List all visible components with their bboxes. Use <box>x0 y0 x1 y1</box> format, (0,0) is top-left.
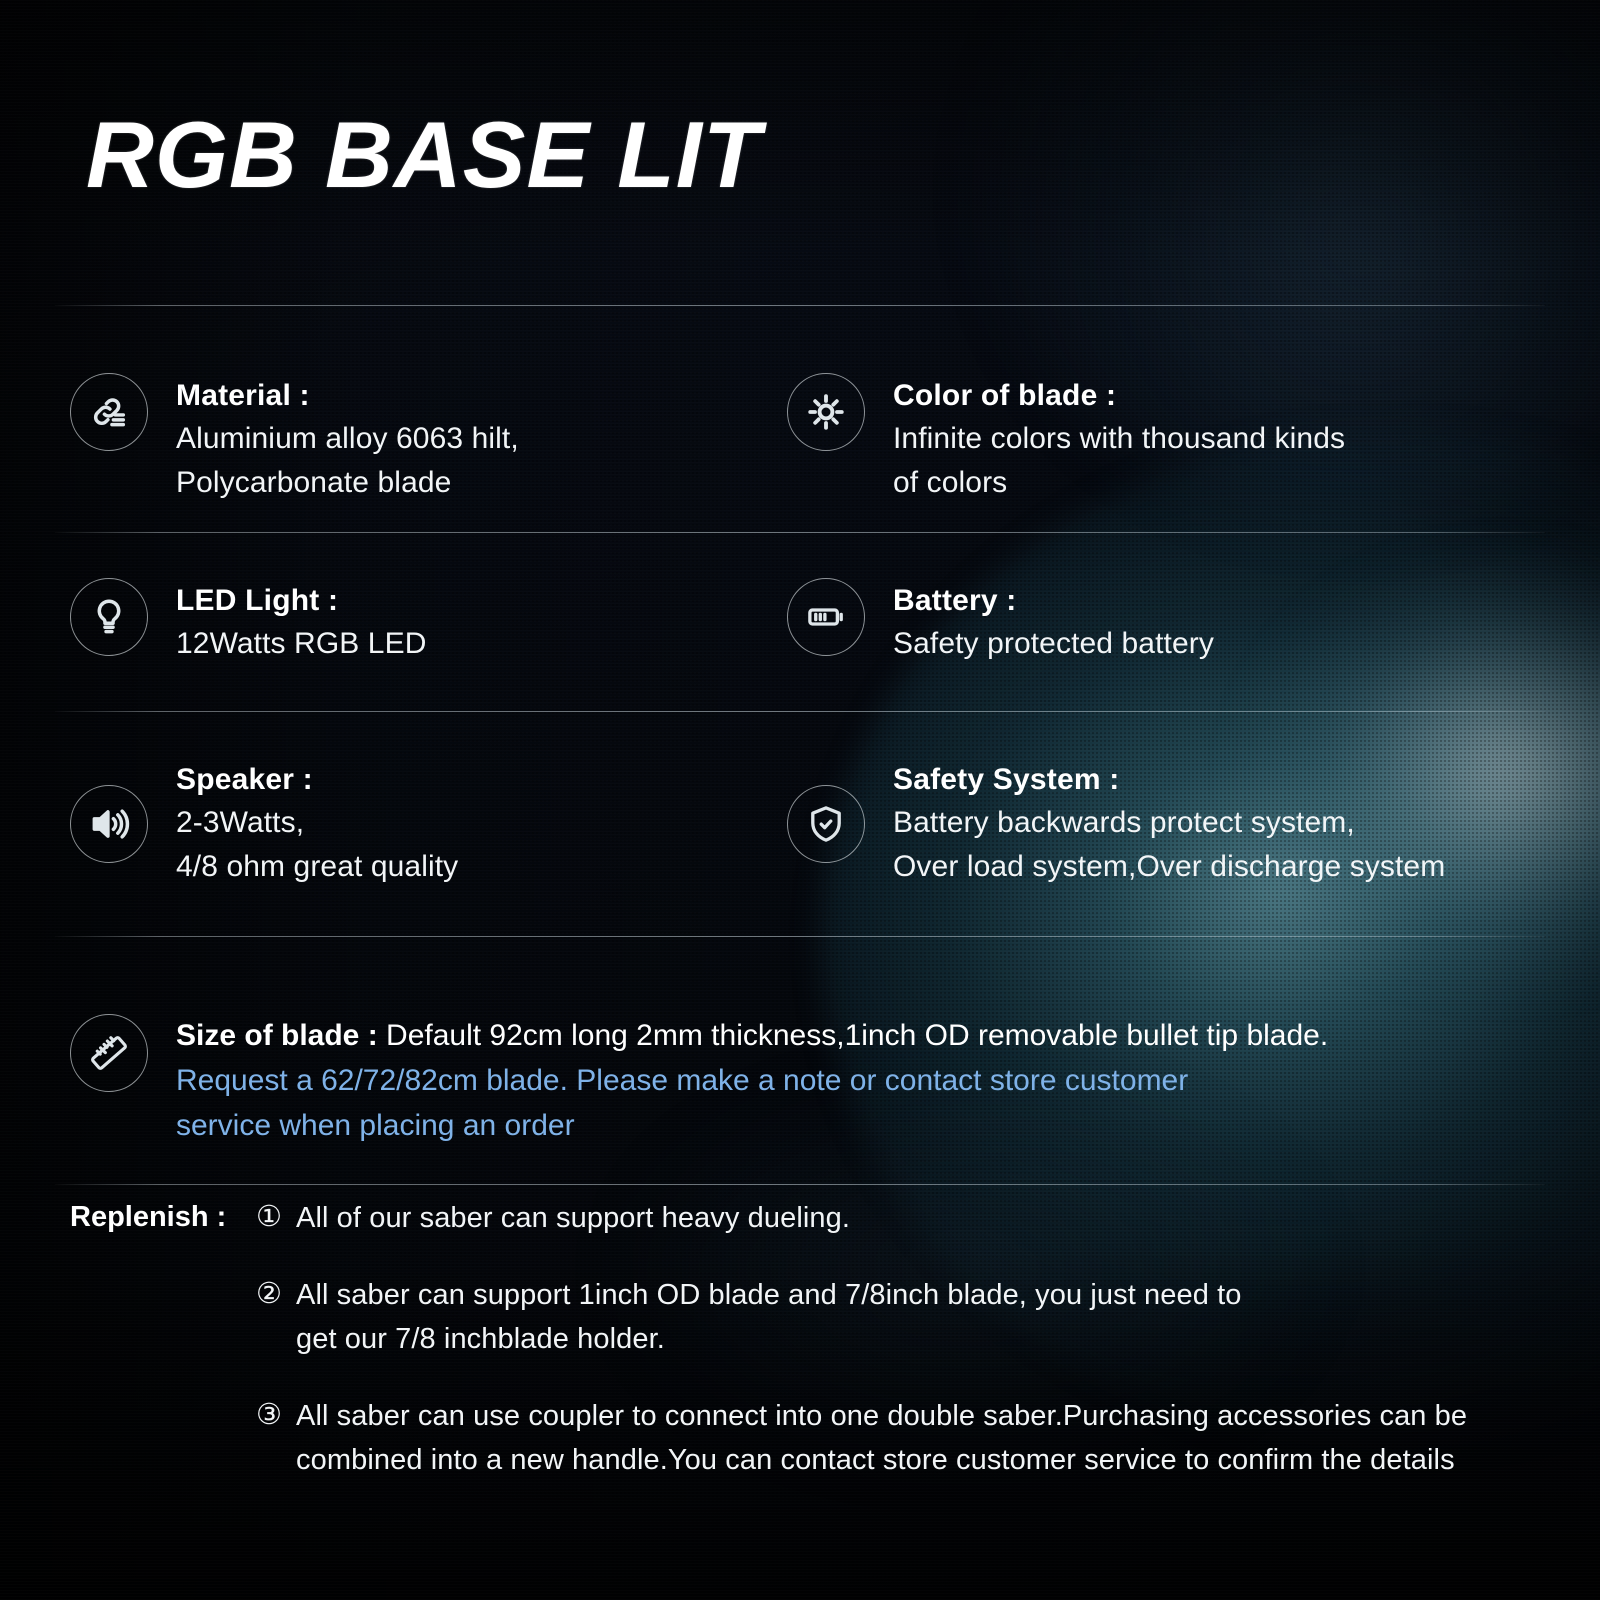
size-of-blade-label: Size of blade : <box>176 1019 378 1052</box>
list-item: ③ All saber can use coupler to connect i… <box>256 1394 1560 1482</box>
spec-label-battery: Battery : <box>893 580 1214 622</box>
speaker-icon <box>70 785 148 863</box>
list-item-number-2: ② <box>256 1273 296 1316</box>
page-title: RGB BASE LIT <box>86 108 761 202</box>
spec-value-color-of-blade: Infinite colors with thousand kinds of c… <box>893 417 1345 505</box>
content-layer: RGB BASE LIT Material : Aluminium alloy … <box>0 0 1600 1600</box>
spec-value-material: Aluminium alloy 6063 hilt, Polycarbonate… <box>176 417 519 505</box>
divider-3 <box>55 711 1545 712</box>
spec-body: Speaker : 2-3Watts, 4/8 ohm great qualit… <box>176 757 458 889</box>
spec-value-battery: Safety protected battery <box>893 622 1214 666</box>
spec-label-safety-system: Safety System : <box>893 759 1445 801</box>
spec-label-led-light: LED Light : <box>176 580 426 622</box>
list-item: ① All of our saber can support heavy due… <box>256 1196 1560 1240</box>
spec-item-size-of-blade: Size of blade : Default 92cm long 2mm th… <box>70 1008 1328 1148</box>
spec-body: Material : Aluminium alloy 6063 hilt, Po… <box>176 373 519 505</box>
spec-item-material: Material : Aluminium alloy 6063 hilt, Po… <box>70 373 519 505</box>
ruler-icon <box>70 1014 148 1092</box>
shield-check-icon <box>787 785 865 863</box>
divider-1 <box>55 305 1545 306</box>
replenish-section: Replenish : ① All of our saber can suppo… <box>70 1196 1560 1482</box>
list-item-number-3: ③ <box>256 1394 296 1437</box>
divider-2 <box>55 532 1545 533</box>
size-of-blade-value-spacer <box>378 1019 386 1052</box>
replenish-row: Replenish : ① All of our saber can suppo… <box>70 1196 1560 1482</box>
spec-body: Color of blade : Infinite colors with th… <box>893 373 1345 505</box>
divider-5 <box>55 1184 1545 1185</box>
battery-icon <box>787 578 865 656</box>
size-of-blade-line: Size of blade : Default 92cm long 2mm th… <box>176 1014 1328 1058</box>
spec-body: Safety System : Battery backwards protec… <box>893 757 1445 889</box>
product-spec-infographic: RGB BASE LIT Material : Aluminium alloy … <box>0 0 1600 1600</box>
list-item: ② All saber can support 1inch OD blade a… <box>256 1273 1560 1361</box>
spec-value-speaker: 2-3Watts, 4/8 ohm great quality <box>176 801 458 889</box>
size-of-blade-note: Request a 62/72/82cm blade. Please make … <box>176 1058 1328 1148</box>
list-item-text-2: All saber can support 1inch OD blade and… <box>296 1273 1241 1361</box>
spec-item-color-of-blade: Color of blade : Infinite colors with th… <box>787 373 1345 505</box>
spec-value-safety-system: Battery backwards protect system, Over l… <box>893 801 1445 889</box>
spec-item-battery: Battery : Safety protected battery <box>787 578 1214 666</box>
spec-body: Battery : Safety protected battery <box>893 578 1214 666</box>
list-item-text-1: All of our saber can support heavy dueli… <box>296 1196 850 1240</box>
spec-label-color-of-blade: Color of blade : <box>893 375 1345 417</box>
list-item-number-1: ① <box>256 1196 296 1239</box>
replenish-items: ① All of our saber can support heavy due… <box>256 1196 1560 1482</box>
size-of-blade-value: Default 92cm long 2mm thickness,1inch OD… <box>386 1019 1328 1052</box>
replenish-title: Replenish : <box>70 1196 256 1239</box>
spec-label-material: Material : <box>176 375 519 417</box>
lightbulb-icon <box>70 578 148 656</box>
spec-value-led-light: 12Watts RGB LED <box>176 622 426 666</box>
spec-item-led-light: LED Light : 12Watts RGB LED <box>70 578 426 666</box>
spec-item-safety-system: Safety System : Battery backwards protec… <box>787 757 1445 889</box>
brightness-sun-icon <box>787 373 865 451</box>
spec-body: Size of blade : Default 92cm long 2mm th… <box>176 1008 1328 1148</box>
list-item-text-3: All saber can use coupler to connect int… <box>296 1394 1467 1482</box>
link-material-icon <box>70 373 148 451</box>
spec-body: LED Light : 12Watts RGB LED <box>176 578 426 666</box>
spec-label-speaker: Speaker : <box>176 759 458 801</box>
spec-item-speaker: Speaker : 2-3Watts, 4/8 ohm great qualit… <box>70 757 458 889</box>
divider-4 <box>55 936 1545 937</box>
